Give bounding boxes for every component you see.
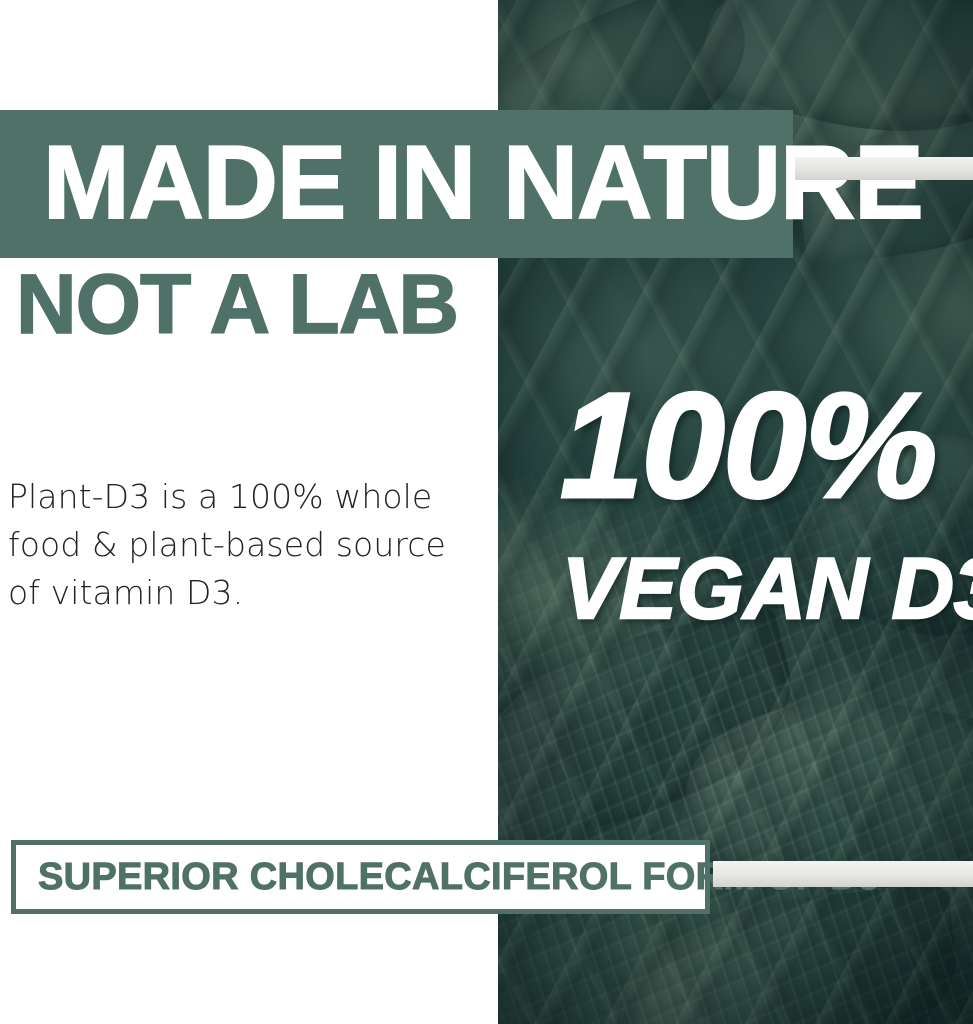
footer-banner: SUPERIOR CHOLECALCIFEROL FORM OF D3 xyxy=(11,840,710,914)
accent-bar-top xyxy=(795,157,973,180)
accent-bar-bottom xyxy=(713,861,973,887)
product-marketing-poster: MADE IN NATURE NOT A LAB Plant-D3 is a 1… xyxy=(0,0,973,1024)
body-paragraph: Plant-D3 is a 100% whole food & plant-ba… xyxy=(8,473,478,617)
headline-secondary: NOT A LAB xyxy=(16,265,458,345)
headline-primary: MADE IN NATURE xyxy=(43,136,923,232)
footer-white-block xyxy=(0,914,498,1024)
headline-banner: MADE IN NATURE xyxy=(0,110,793,258)
